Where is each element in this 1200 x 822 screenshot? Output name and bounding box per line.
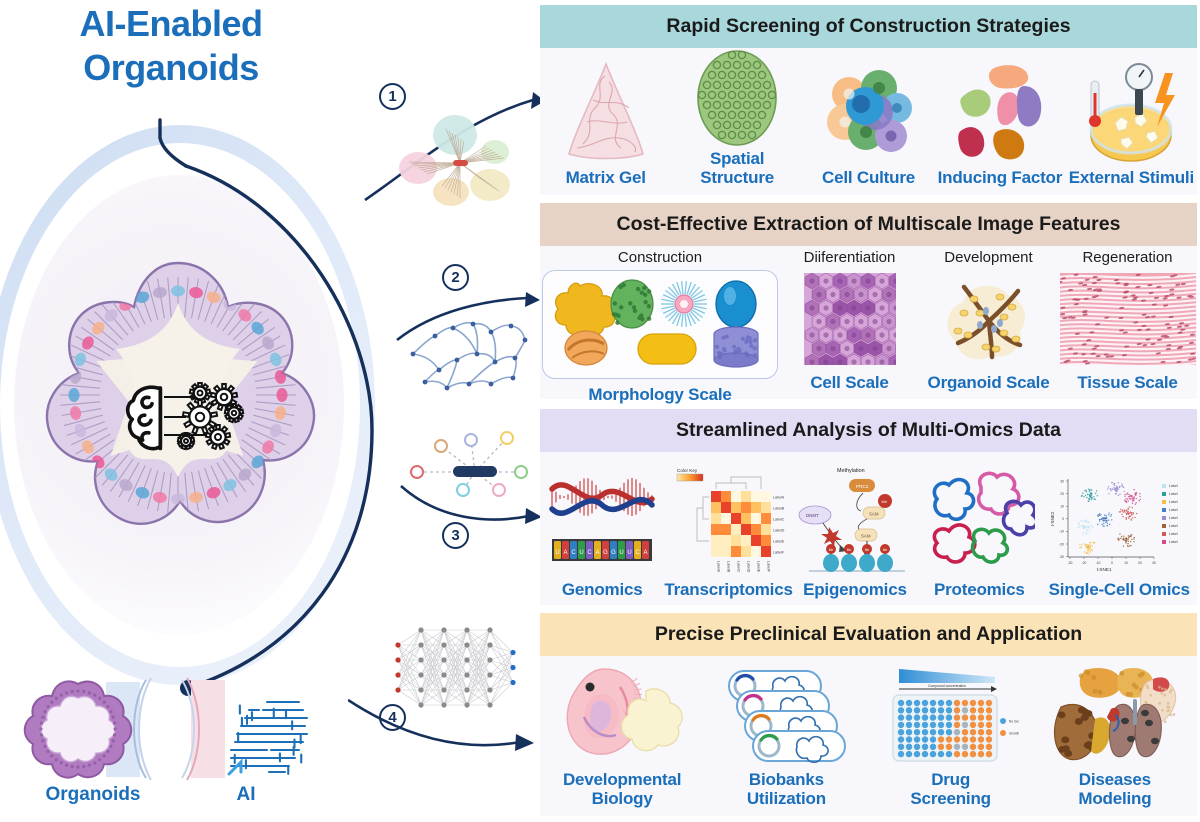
panel-3-body: UACUCAGGUUCA Genomics Color Key: [540, 452, 1197, 605]
stacked-culture-flasks-icon: [723, 664, 849, 770]
label-tissue-scale: Tissue Scale: [1077, 373, 1177, 392]
panel-4-body: Developmental Biology Biobanks Utilizati…: [540, 656, 1197, 816]
svg-text:U: U: [628, 550, 632, 556]
radial-node-graph-icon: [395, 428, 545, 538]
tsne-legend-item: Label: [1169, 500, 1178, 504]
item-diseases-modeling[interactable]: Diseases Modeling: [1033, 656, 1197, 816]
panel-multi-omics: Streamlined Analysis of Multi-Omics Data…: [540, 409, 1197, 605]
heatmap-row-label: LabelD: [773, 528, 785, 532]
tsne-ytick: 30: [1060, 479, 1064, 483]
item-organoid-scale[interactable]: Development: [919, 246, 1058, 399]
tsne-xtick: -20: [1082, 561, 1087, 565]
hexagon-cell-sheet-icon: [804, 271, 896, 367]
item-cell-culture[interactable]: Cell Culture: [803, 48, 934, 195]
item-epigenomics[interactable]: Methylation PRC2 Me SAM SAM DNMT: [793, 452, 917, 605]
svg-text:G: G: [603, 550, 608, 556]
label-genomics: Genomics: [562, 580, 643, 599]
svg-text:U: U: [580, 550, 584, 556]
panel-2-header: Cost-Effective Extraction of Multiscale …: [540, 203, 1197, 246]
tsne-xtick: -10: [1096, 561, 1101, 565]
label-diseases-l2: Modeling: [1078, 789, 1151, 808]
dna-helix-icon: UACUCAGGUUCA: [546, 462, 658, 580]
petri-dish-stimuli-icon: [1081, 56, 1181, 168]
tsne-legend-item: Label: [1169, 508, 1178, 512]
svg-text:LabelB: LabelB: [726, 561, 730, 573]
svg-text:A: A: [644, 550, 648, 556]
label-biobanks-l2: Utilization: [747, 789, 826, 808]
panel-1-body: Matrix Gel Spatial Structure: [540, 48, 1197, 195]
svg-text:LabelE: LabelE: [756, 561, 760, 573]
microplate-legend-item: No Growth: [1009, 719, 1019, 723]
sublabel-development: Development: [944, 249, 1032, 266]
tsne-legend-item: Label: [1169, 524, 1178, 528]
tsne-xtick: 0: [1111, 561, 1113, 565]
tsne-ytick: -20: [1059, 542, 1064, 546]
item-morphology-scale[interactable]: Construction: [540, 246, 780, 399]
label-drug-l2: Screening: [910, 789, 990, 808]
svg-text:LabelC: LabelC: [736, 561, 740, 573]
cell-cluster-icon: [821, 56, 917, 168]
svg-text:Me: Me: [847, 548, 852, 552]
svg-text:LabelF: LabelF: [766, 561, 770, 573]
svg-text:A: A: [564, 550, 568, 556]
item-proteomics[interactable]: Proteomics: [917, 452, 1041, 605]
diseased-organs-icon: [1049, 664, 1181, 770]
protein-blobs-icon: [952, 56, 1048, 168]
duo-item-ai: AI: [171, 672, 321, 822]
tsne-legend-item: Label: [1169, 540, 1178, 544]
page-title-line1: AI-Enabled: [36, 2, 306, 46]
item-spatial-structure[interactable]: Spatial Structure: [671, 48, 802, 195]
heatmap-color-key-label: Color Key: [677, 468, 698, 473]
sublabel-construction: Construction: [618, 249, 702, 266]
label-cell-culture: Cell Culture: [822, 168, 915, 187]
tsne-xtick: -30: [1068, 561, 1073, 565]
item-developmental-biology[interactable]: Developmental Biology: [540, 656, 704, 816]
item-cell-scale[interactable]: Diiferentiation Cell Scale: [780, 246, 919, 399]
svg-text:A: A: [596, 550, 600, 556]
tsne-scatter-icon: -30-20-1001020303020100-10-20-30 t-SNE1 …: [1046, 462, 1192, 580]
embryo-organoid-icon: [560, 664, 684, 770]
muscle-tissue-icon: [1060, 271, 1196, 367]
label-drug-l1: Drug: [910, 770, 990, 789]
label-epigenomics: Epigenomics: [803, 580, 907, 599]
tsne-xtick: 10: [1124, 561, 1128, 565]
connector-number-2: 2: [442, 264, 469, 291]
item-external-stimuli[interactable]: External Stimuli: [1066, 48, 1197, 195]
tsne-ytick: -30: [1059, 555, 1064, 559]
heatmap-row-label: LabelA: [773, 495, 785, 499]
label-developmental-biology-l1: Developmental: [563, 770, 681, 789]
panel-4-header: Precise Preclinical Evaluation and Appli…: [540, 613, 1197, 656]
tsne-ylabel: t-SNE2: [1050, 511, 1055, 526]
organoid-cross-section-icon: [18, 672, 168, 784]
item-genomics[interactable]: UACUCAGGUUCA Genomics: [540, 452, 664, 605]
svg-text:G: G: [611, 550, 616, 556]
tsne-xtick: 20: [1138, 561, 1142, 565]
panel-1-header: Rapid Screening of Construction Strategi…: [540, 5, 1197, 48]
microplate-legend-item: Growth: [1009, 731, 1019, 735]
organoid-star-with-brain-and-gears-icon: [28, 245, 328, 575]
svg-text:Me: Me: [883, 548, 888, 552]
label-diseases-l1: Diseases: [1078, 770, 1151, 789]
heatmap-row-label: LabelF: [773, 550, 785, 554]
protein-tangles-icon: [923, 462, 1035, 580]
panel-image-features: Cost-Effective Extraction of Multiscale …: [540, 203, 1197, 399]
tsne-legend-item: Label: [1169, 492, 1178, 496]
svg-text:C: C: [636, 550, 641, 556]
label-inducing-factor: Inducing Factor: [938, 168, 1063, 187]
organoid-ai-duo: Organoids AI: [8, 672, 338, 822]
duo-label-organoids: Organoids: [18, 784, 168, 806]
svg-text:U: U: [556, 550, 560, 556]
svg-text:Me: Me: [865, 548, 870, 552]
matrix-gel-icon: [563, 56, 649, 168]
page-title-line2: Organoids: [36, 46, 306, 90]
label-drug-screening: Drug Screening: [910, 770, 990, 808]
label-transcriptomics: Transcriptomics: [664, 580, 792, 599]
label-cell-scale: Cell Scale: [810, 373, 888, 392]
sublabel-differentiation: Diiferentiation: [804, 249, 896, 266]
label-proteomics: Proteomics: [934, 580, 1025, 599]
neural-network-icon: [348, 612, 543, 752]
network-hub-clusters-icon: [355, 80, 545, 215]
tsne-xtick: 30: [1152, 561, 1156, 565]
tsne-ytick: 20: [1060, 492, 1064, 496]
label-developmental-biology-l2: Biology: [563, 789, 681, 808]
svg-text:LabelD: LabelD: [746, 561, 750, 573]
duo-item-organoids: Organoids: [18, 672, 168, 822]
overview-left-column: AI-Enabled Organoids: [0, 0, 535, 821]
morphology-shapes-icon: [542, 270, 778, 379]
label-matrix-gel: Matrix Gel: [566, 168, 646, 187]
item-single-cell-omics[interactable]: -30-20-1001020303020100-10-20-30 t-SNE1 …: [1042, 452, 1197, 605]
svg-text:U: U: [620, 550, 624, 556]
item-matrix-gel[interactable]: Matrix Gel: [540, 48, 671, 195]
heatmap-row-label: LabelE: [773, 539, 785, 543]
microplate-gradient-label: Compound concentration: [928, 684, 966, 688]
duo-label-ai: AI: [171, 784, 321, 806]
panels-column: Rapid Screening of Construction Strategi…: [535, 0, 1200, 821]
tsne-legend-item: Label: [1169, 484, 1178, 488]
tsne-ytick: 0: [1062, 517, 1064, 521]
svg-text:PRC2: PRC2: [856, 484, 869, 489]
label-biobanks-utilization: Biobanks Utilization: [747, 770, 826, 808]
item-transcriptomics[interactable]: Color Key LabelALabelBLabelCLabelDLabelE…: [664, 452, 792, 605]
sublabel-regeneration: Regeneration: [1082, 249, 1172, 266]
svg-text:C: C: [572, 550, 577, 556]
svg-text:C: C: [588, 550, 593, 556]
svg-text:Me: Me: [829, 548, 834, 552]
circuit-brain-icon: [171, 672, 321, 784]
panel-construction-strategies: Rapid Screening of Construction Strategi…: [540, 5, 1197, 195]
label-organoid-scale: Organoid Scale: [928, 373, 1050, 392]
tsne-legend-item: Label: [1169, 516, 1178, 520]
branching-organoid-icon: [934, 271, 1044, 367]
label-morphology-scale: Morphology Scale: [588, 385, 731, 404]
svg-text:DNMT: DNMT: [806, 513, 819, 518]
heatmap-row-label: LabelC: [773, 517, 785, 521]
item-drug-screening[interactable]: Compound concentration No GrowthGrowth D…: [869, 656, 1033, 816]
panel-2-body: Construction: [540, 246, 1197, 399]
clustered-heatmap-icon: Color Key LabelALabelBLabelCLabelDLabelE…: [669, 462, 789, 580]
svg-text:SAM: SAM: [869, 511, 879, 516]
methylation-pathway-icon: Methylation PRC2 Me SAM SAM DNMT: [793, 462, 917, 580]
item-tissue-scale[interactable]: Regeneration Tissue Scale: [1058, 246, 1197, 399]
svg-text:SAM: SAM: [861, 533, 871, 538]
label-external-stimuli: External Stimuli: [1069, 168, 1194, 187]
tsne-ytick: 10: [1060, 504, 1064, 508]
svg-text:LabelA: LabelA: [716, 561, 720, 573]
svg-text:Me: Me: [881, 499, 887, 504]
heatmap-row-label: LabelB: [773, 506, 785, 510]
label-single-cell-omics: Single-Cell Omics: [1049, 580, 1190, 599]
tsne-ytick: -10: [1059, 530, 1064, 534]
panel-3-header: Streamlined Analysis of Multi-Omics Data: [540, 409, 1197, 452]
tsne-legend-item: Label: [1169, 532, 1178, 536]
spheroid-structure-icon: [692, 45, 782, 149]
item-biobanks-utilization[interactable]: Biobanks Utilization: [704, 656, 868, 816]
methylation-title-label: Methylation: [837, 468, 865, 474]
mesh-graph-icon: [395, 292, 545, 402]
microplate-assay-icon: Compound concentration No GrowthGrowth: [883, 664, 1019, 770]
label-biobanks-l1: Biobanks: [747, 770, 826, 789]
label-developmental-biology: Developmental Biology: [563, 770, 681, 808]
tsne-xlabel: t-SNE1: [1097, 567, 1112, 572]
label-spatial-structure: Spatial Structure: [671, 149, 802, 187]
label-diseases-modeling: Diseases Modeling: [1078, 770, 1151, 808]
page-title: AI-Enabled Organoids: [36, 2, 306, 90]
panel-preclinical-application: Precise Preclinical Evaluation and Appli…: [540, 613, 1197, 816]
item-inducing-factor[interactable]: Inducing Factor: [934, 48, 1065, 195]
